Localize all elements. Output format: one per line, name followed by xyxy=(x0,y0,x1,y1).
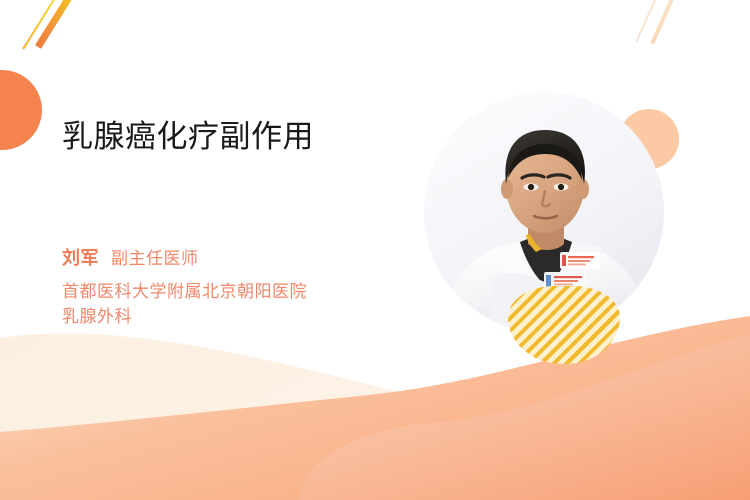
doctor-topic-card: 乳腺癌化疗副作用 刘军 副主任医师 首都医科大学附属北京朝阳医院 乳腺外科 xyxy=(0,0,750,500)
doctor-department: 乳腺外科 xyxy=(62,305,422,330)
diagonal-stripe-mid-icon xyxy=(157,359,173,392)
doctor-name-row: 刘军 副主任医师 xyxy=(62,244,422,270)
diagonal-stripe-yellow-icon xyxy=(22,0,58,50)
doctor-hospital: 首都医科大学附属北京朝阳医院 xyxy=(62,280,422,305)
orange-circle-decoration xyxy=(0,70,42,150)
diagonal-stripe-orange-icon xyxy=(35,0,76,49)
title-block: 乳腺癌化疗副作用 xyxy=(62,118,412,157)
doctor-role-title: 副主任医师 xyxy=(111,244,199,269)
doctor-affiliation: 首都医科大学附属北京朝阳医院 乳腺外科 xyxy=(62,280,422,329)
striped-circle-decoration xyxy=(508,286,620,364)
diagonal-stripe-mid2-icon xyxy=(450,379,462,404)
diagonal-stripe-faint-a-icon xyxy=(650,0,677,44)
diagonal-stripe-faint-b-icon xyxy=(636,0,659,42)
bottom-wave-decoration xyxy=(0,310,750,500)
doctor-name: 刘军 xyxy=(62,244,99,270)
page-title: 乳腺癌化疗副作用 xyxy=(62,118,412,157)
doctor-byline: 刘军 副主任医师 首都医科大学附属北京朝阳医院 乳腺外科 xyxy=(62,244,422,329)
